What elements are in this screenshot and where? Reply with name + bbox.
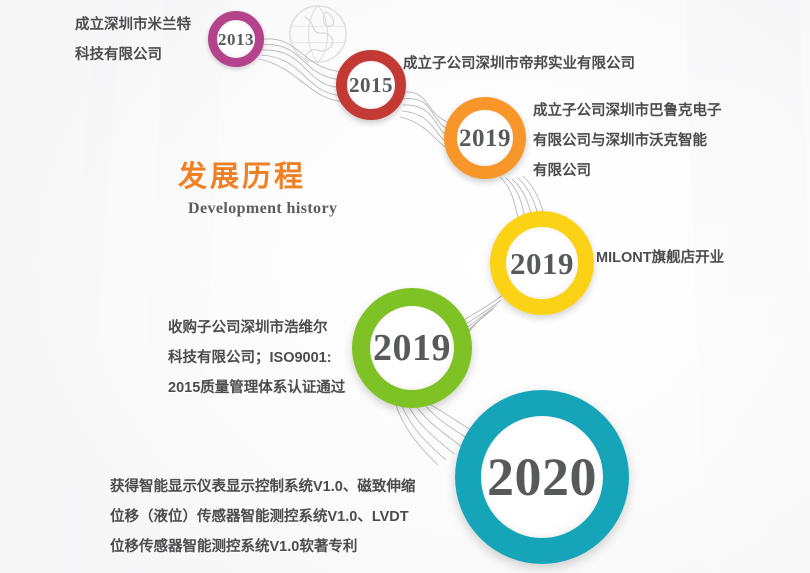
bg-streak-3 xyxy=(685,0,810,573)
milestone-year-2013: 2013 xyxy=(218,31,254,48)
milestone-circle-2019-yellow[interactable]: 2019 xyxy=(490,211,594,315)
milestone-text-2019-orange-line-2: 有限公司与深圳市沃克智能 xyxy=(533,126,722,156)
milestone-circle-2019-green[interactable]: 2019 xyxy=(352,288,472,408)
milestone-circle-2015[interactable]: 2015 xyxy=(336,50,406,120)
milestone-text-2013: 成立深圳市米兰特 科技有限公司 xyxy=(75,10,191,70)
milestone-year-2015: 2015 xyxy=(349,75,393,96)
milestone-text-2019-orange-line-3: 有限公司 xyxy=(533,156,722,186)
milestone-text-2020-line-3: 位移传感器智能测控系统V1.0软著专利 xyxy=(110,532,415,562)
globe-icon xyxy=(287,3,349,65)
milestone-text-2015-line-1: 成立子公司深圳市帝邦实业有限公司 xyxy=(403,49,635,79)
milestone-circle-2019-orange[interactable]: 2019 xyxy=(444,97,526,179)
milestone-text-2019-yellow-line-1: MILONT旗舰店开业 xyxy=(596,243,724,273)
milestone-text-2020: 获得智能显示仪表显示控制系统V1.0、磁致伸缩 位移（液位）传感器智能测控系统V… xyxy=(110,472,415,562)
page-title-en: Development history xyxy=(188,200,337,218)
milestone-text-2019-orange-line-1: 成立子公司深圳市巴鲁克电子 xyxy=(533,96,722,126)
page-title: 发展历程 Development history xyxy=(178,160,337,218)
page-title-cn: 发展历程 xyxy=(178,160,337,193)
milestone-year-2019-green: 2019 xyxy=(373,329,451,367)
milestone-text-2015: 成立子公司深圳市帝邦实业有限公司 xyxy=(403,49,635,79)
milestone-text-2019-green: 收购子公司深圳市浩维尔 科技有限公司；ISO9001: 2015质量管理体系认证… xyxy=(168,313,345,403)
milestone-text-2019-green-line-3: 2015质量管理体系认证通过 xyxy=(168,373,345,403)
milestone-text-2019-yellow: MILONT旗舰店开业 xyxy=(596,243,724,273)
milestone-circle-2020[interactable]: 2020 xyxy=(455,390,629,564)
milestone-text-2013-line-1: 成立深圳市米兰特 xyxy=(75,10,191,40)
milestone-circle-2013[interactable]: 2013 xyxy=(208,11,264,67)
milestone-text-2013-line-2: 科技有限公司 xyxy=(75,40,191,70)
milestone-text-2020-line-1: 获得智能显示仪表显示控制系统V1.0、磁致伸缩 xyxy=(110,472,415,502)
milestone-year-2020: 2020 xyxy=(487,450,597,504)
milestone-text-2019-green-line-2: 科技有限公司；ISO9001: xyxy=(168,343,345,373)
milestone-year-2019-yellow: 2019 xyxy=(510,248,574,279)
milestone-text-2020-line-2: 位移（液位）传感器智能测控系统V1.0、LVDT xyxy=(110,502,415,532)
milestone-year-2019-orange: 2019 xyxy=(459,126,511,151)
milestone-text-2019-orange: 成立子公司深圳市巴鲁克电子 有限公司与深圳市沃克智能 有限公司 xyxy=(533,96,722,186)
development-history-infographic: 2013 成立深圳市米兰特 科技有限公司 2015 成立子公司深圳市帝邦实业有限… xyxy=(0,0,810,573)
milestone-text-2019-green-line-1: 收购子公司深圳市浩维尔 xyxy=(168,313,345,343)
